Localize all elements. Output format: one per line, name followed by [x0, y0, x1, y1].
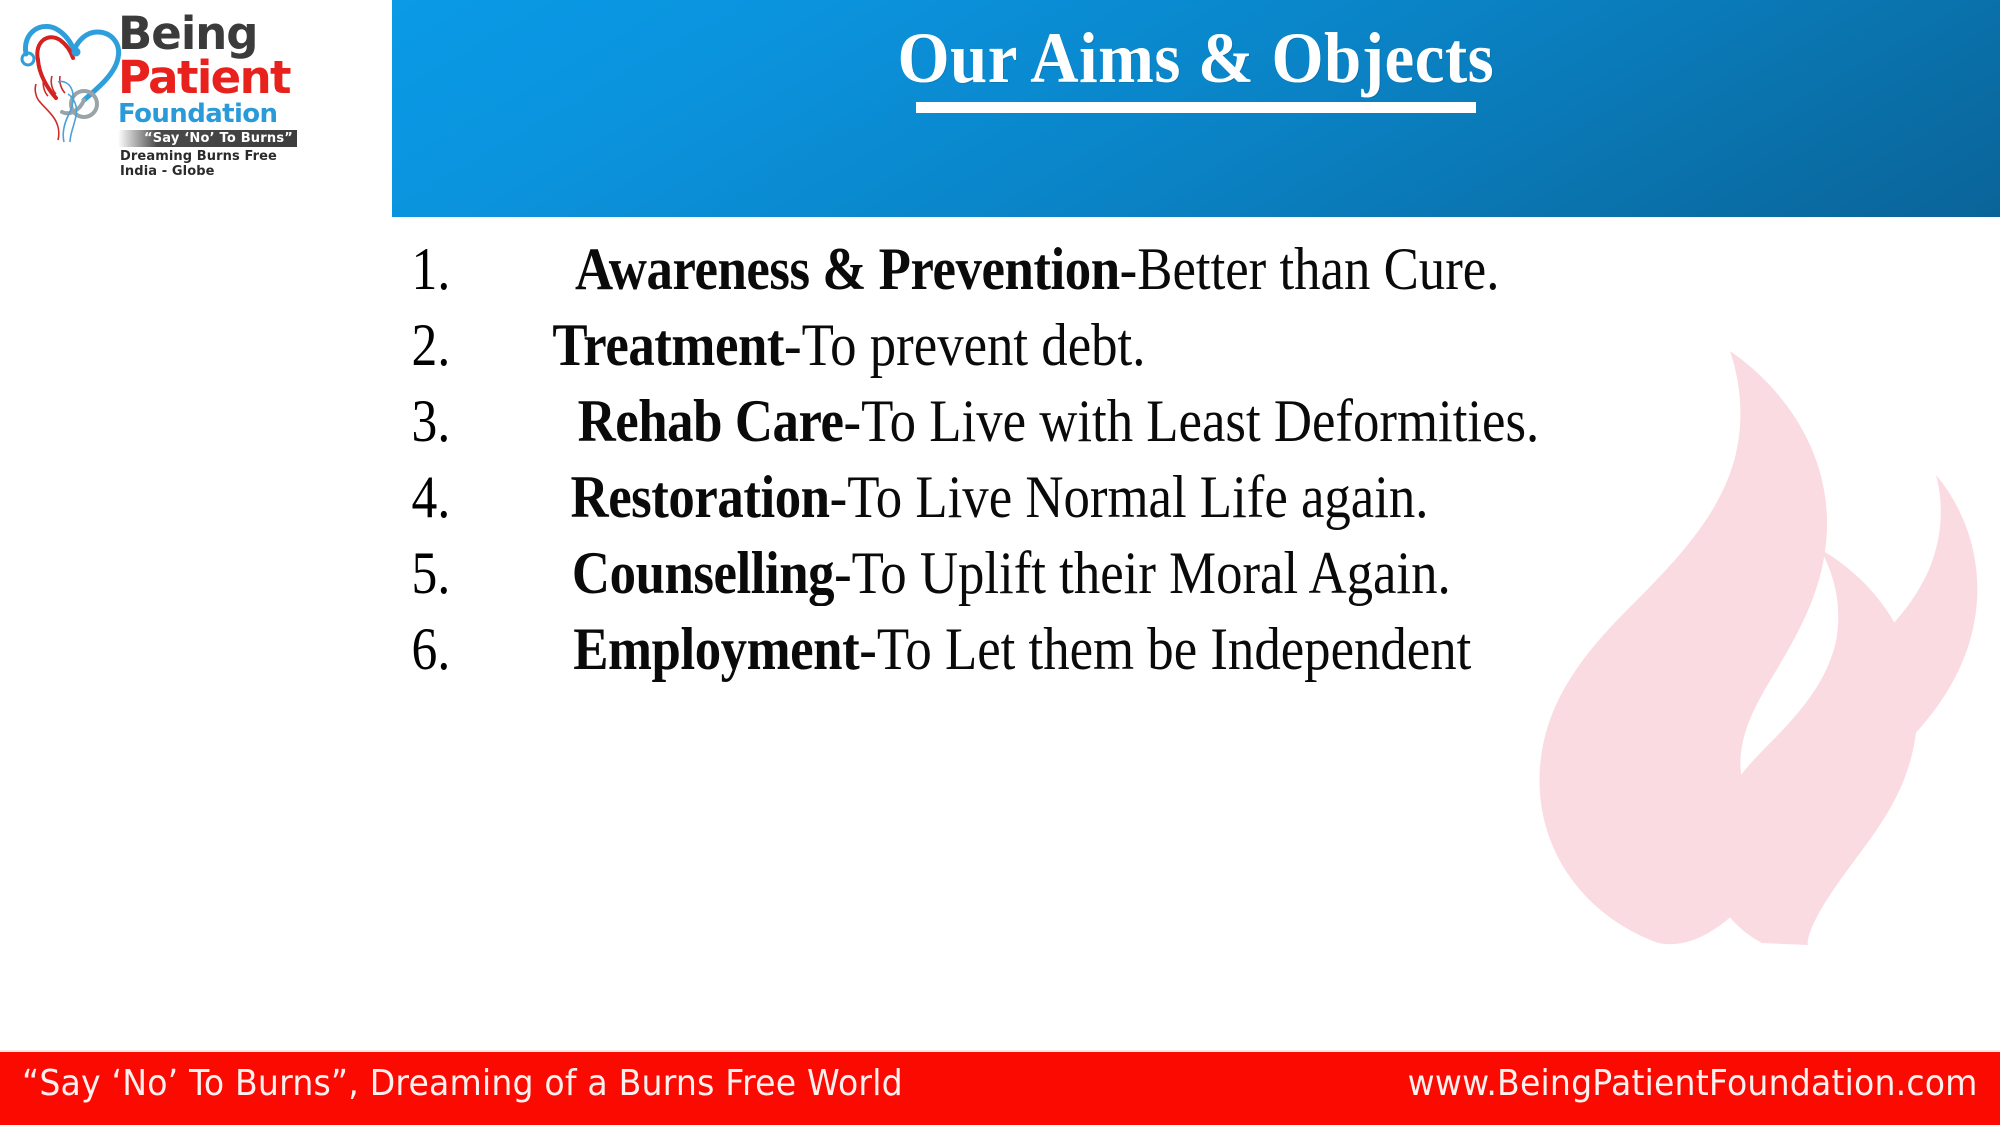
list-item-text: Restoration-To Live Normal Life again.: [571, 463, 1429, 532]
logo-subline: Dreaming Burns Free India - Globe: [120, 149, 314, 179]
footer-slogan: “Say ‘No’ To Burns”, Dreaming of a Burns…: [22, 1063, 903, 1104]
list-item: 1. Awareness & Prevention-Better than Cu…: [0, 235, 2000, 307]
list-item-text: Rehab Care-To Live with Least Deformitie…: [578, 387, 1540, 456]
logo-line-being: Being: [118, 12, 314, 55]
list-item-description: -To prevent debt.: [784, 312, 1145, 378]
aims-list: 1. Awareness & Prevention-Better than Cu…: [0, 235, 2000, 691]
list-item-number: 2.: [412, 311, 505, 380]
list-item-term: Restoration: [571, 464, 830, 530]
list-item-number: 4.: [412, 463, 505, 532]
list-item-description: -To Live Normal Life again.: [830, 464, 1429, 530]
list-item-text: Employment-To Let them be Independent: [573, 615, 1471, 684]
header-title-container: Our Aims & Objects: [392, 0, 2000, 217]
list-item: 3. Rehab Care-To Live with Least Deformi…: [0, 387, 2000, 459]
footer-website[interactable]: www.BeingPatientFoundation.com: [1408, 1063, 1978, 1104]
title-underline: [916, 102, 1476, 113]
list-item-term: Employment: [573, 616, 859, 682]
list-item-text: Awareness & Prevention-Better than Cure.: [575, 235, 1499, 304]
list-item: 4. Restoration-To Live Normal Life again…: [0, 463, 2000, 535]
list-item-term: Counselling: [572, 540, 834, 606]
list-item-description: -To Uplift their Moral Again.: [834, 540, 1451, 606]
list-item-description: -To Live with Least Deformities.: [844, 388, 1540, 454]
list-item-number: 3.: [412, 387, 505, 456]
list-item: 6. Employment-To Let them be Independent: [0, 615, 2000, 687]
list-item-number: 1.: [412, 235, 505, 304]
list-item-term: Awareness & Prevention: [575, 236, 1120, 302]
list-item-description: -To Let them be Independent: [859, 616, 1471, 682]
logo-wordmark: Being Patient Foundation “Say ‘No’ To Bu…: [118, 12, 314, 172]
list-item: 5. Counselling-To Uplift their Moral Aga…: [0, 539, 2000, 611]
list-item-text: Counselling-To Uplift their Moral Again.: [572, 539, 1451, 608]
list-item-text: Treatment-To prevent debt.: [552, 311, 1145, 380]
slide-root: Our Aims & Objects: [0, 0, 2000, 1125]
list-item-term: Treatment: [552, 312, 784, 378]
list-item-term: Rehab Care: [578, 388, 844, 454]
list-item-description: -Better than Cure.: [1120, 236, 1500, 302]
organization-logo: Being Patient Foundation “Say ‘No’ To Bu…: [14, 8, 314, 176]
list-item-number: 6.: [412, 615, 505, 684]
logo-line-patient: Patient: [118, 56, 314, 99]
page-title: Our Aims & Objects: [898, 22, 1495, 95]
logo-line-foundation: Foundation: [118, 101, 314, 127]
logo-tagline: “Say ‘No’ To Burns”: [118, 130, 297, 147]
heart-stethoscope-icon: [14, 12, 134, 144]
list-item: 2. Treatment-To prevent debt.: [0, 311, 2000, 383]
list-item-number: 5.: [412, 539, 505, 608]
footer-bar: “Say ‘No’ To Burns”, Dreaming of a Burns…: [0, 1052, 2000, 1125]
